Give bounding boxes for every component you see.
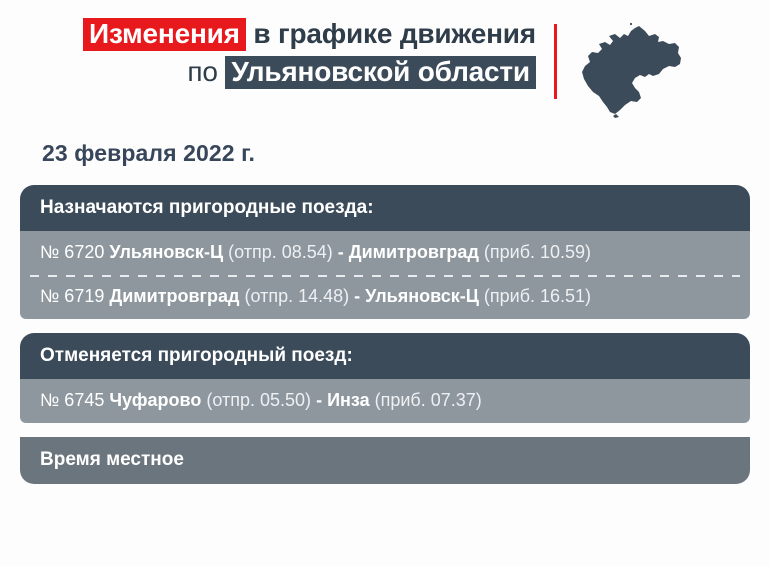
title-line-2: по Ульяновской области <box>83 56 536 89</box>
station-to: Димитровград <box>349 242 479 262</box>
title-line-2-prefix: по <box>187 56 225 87</box>
title-highlight-changes: Изменения <box>83 18 246 51</box>
arrival-time: (приб. 10.59) <box>484 242 591 262</box>
title-line-1-rest: в графике движения <box>246 18 536 49</box>
station-from: Чуфарово <box>109 390 201 410</box>
station-from: Димитровград <box>109 286 239 306</box>
arrival-time: (приб. 07.37) <box>375 390 482 410</box>
section-heading: Назначаются пригородные поезда: <box>20 185 750 231</box>
train-number: № 6720 <box>40 242 104 262</box>
page-title: Изменения в графике движения по Ульяновс… <box>83 18 554 89</box>
red-vertical-rule-icon <box>554 24 557 99</box>
route-separator: - <box>316 390 322 410</box>
route-separator: - <box>338 242 344 262</box>
route-separator: - <box>354 286 360 306</box>
train-row-group: № 6720 Ульяновск-Ц (отпр. 08.54) - Димит… <box>20 231 750 319</box>
local-time-note: Время местное <box>20 437 750 484</box>
schedule-date: 23 февраля 2022 г. <box>42 140 770 167</box>
table-row: № 6719 Димитровград (отпр. 14.48) - Улья… <box>20 275 750 319</box>
departure-time: (отпр. 05.50) <box>206 390 311 410</box>
station-to: Инза <box>327 390 370 410</box>
train-row-group: № 6745 Чуфарово (отпр. 05.50) - Инза (пр… <box>20 379 750 423</box>
train-number: № 6745 <box>40 390 104 410</box>
train-number: № 6719 <box>40 286 104 306</box>
table-row: № 6745 Чуфарово (отпр. 05.50) - Инза (пр… <box>20 379 750 423</box>
departure-time: (отпр. 08.54) <box>228 242 333 262</box>
title-line-1: Изменения в графике движения <box>83 18 536 51</box>
section-assigned-trains: Назначаются пригородные поезда: № 6720 У… <box>20 185 750 319</box>
section-heading: Отменяется пригородный поезд: <box>20 333 750 379</box>
infographic-header: Изменения в графике движения по Ульяновс… <box>0 0 770 118</box>
station-from: Ульяновск-Ц <box>109 242 223 262</box>
departure-time: (отпр. 14.48) <box>244 286 349 306</box>
title-highlight-region: Ульяновской области <box>225 56 536 89</box>
arrival-time: (приб. 16.51) <box>484 286 591 306</box>
section-cancelled-trains: Отменяется пригородный поезд: № 6745 Чуф… <box>20 333 750 423</box>
table-row: № 6720 Ульяновск-Ц (отпр. 08.54) - Димит… <box>20 231 750 275</box>
station-to: Ульяновск-Ц <box>365 286 479 306</box>
schedule-panels: Назначаются пригородные поезда: № 6720 У… <box>20 185 750 484</box>
ulyanovsk-oblast-map-icon <box>579 22 687 123</box>
